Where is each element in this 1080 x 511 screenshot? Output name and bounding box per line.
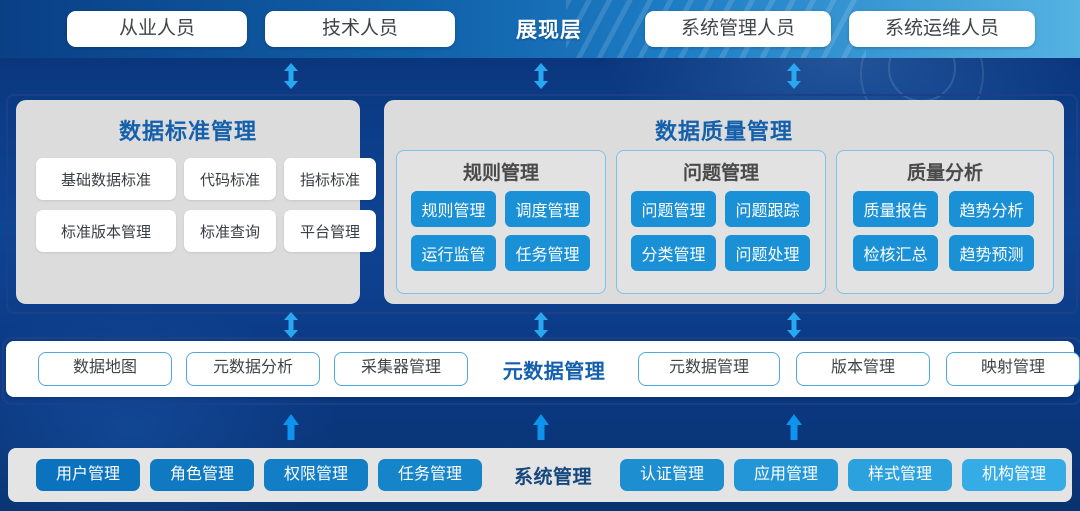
double-arrow-vertical-icon (530, 311, 552, 337)
system-pill-right-1[interactable]: 应用管理 (734, 459, 838, 491)
quality-group-2-item-2[interactable]: 检核汇总 (853, 235, 938, 271)
quality-group-1-item-0[interactable]: 问题管理 (631, 191, 716, 227)
quality-group-0-item-2[interactable]: 运行监管 (411, 235, 496, 271)
quality-group-0-title: 规则管理 (397, 158, 605, 185)
system-pill-right-2[interactable]: 样式管理 (848, 459, 952, 491)
system-pill-right-0[interactable]: 认证管理 (620, 459, 724, 491)
metadata-pill-left-1[interactable]: 元数据分析 (186, 352, 320, 386)
system-pill-left-3[interactable]: 任务管理 (378, 459, 482, 491)
quality-group-0: 规则管理 规则管理 调度管理 运行监管 任务管理 (396, 150, 606, 294)
system-row-title: 系统管理 (498, 462, 608, 489)
metadata-pill-right-1[interactable]: 版本管理 (796, 352, 930, 386)
system-pill-left-0[interactable]: 用户管理 (36, 459, 140, 491)
double-arrow-vertical-icon (783, 62, 805, 88)
quality-group-1: 问题管理 问题管理 问题跟踪 分类管理 问题处理 (616, 150, 826, 294)
system-pill-right-3[interactable]: 机构管理 (962, 459, 1066, 491)
metadata-pill-left-0[interactable]: 数据地图 (38, 352, 172, 386)
connector-strip-middle (0, 310, 1080, 340)
double-arrow-vertical-icon (280, 62, 302, 88)
system-pill-left-1[interactable]: 角色管理 (150, 459, 254, 491)
standard-card-1-2[interactable]: 平台管理 (284, 210, 376, 252)
panel-data-quality-title: 数据质量管理 (384, 114, 1064, 146)
metadata-pill-left-2[interactable]: 采集器管理 (334, 352, 468, 386)
standard-card-0-2[interactable]: 指标标准 (284, 158, 376, 200)
system-pill-left-2[interactable]: 权限管理 (264, 459, 368, 491)
quality-group-1-item-2[interactable]: 分类管理 (631, 235, 716, 271)
arrow-up-icon (280, 412, 302, 438)
double-arrow-vertical-icon (783, 311, 805, 337)
quality-group-1-item-1[interactable]: 问题跟踪 (725, 191, 810, 227)
header-role-pill-2[interactable]: 系统管理人员 (645, 11, 831, 47)
connector-strip-top (0, 58, 1080, 94)
system-management-row: 用户管理 角色管理 权限管理 任务管理 系统管理 认证管理 应用管理 样式管理 … (8, 448, 1072, 502)
quality-group-2-item-3[interactable]: 趋势预测 (949, 235, 1034, 271)
quality-group-2-item-0[interactable]: 质量报告 (853, 191, 938, 227)
header-title: 展现层 (497, 14, 601, 44)
arrow-up-icon (783, 412, 805, 438)
connector-strip-bottom (0, 404, 1080, 446)
quality-group-0-item-3[interactable]: 任务管理 (505, 235, 590, 271)
header-role-pill-1[interactable]: 技术人员 (265, 11, 455, 47)
header-bar: 从业人员 技术人员 展现层 系统管理人员 系统运维人员 (0, 0, 1080, 58)
panel-data-quality: 数据质量管理 规则管理 规则管理 调度管理 运行监管 任务管理 问题管理 问题管… (384, 100, 1064, 304)
header-role-pill-0[interactable]: 从业人员 (67, 11, 247, 47)
quality-group-1-item-3[interactable]: 问题处理 (725, 235, 810, 271)
quality-group-1-title: 问题管理 (617, 158, 825, 185)
metadata-row-title: 元数据管理 (494, 355, 614, 384)
metadata-pill-right-0[interactable]: 元数据管理 (638, 352, 780, 386)
double-arrow-vertical-icon (280, 311, 302, 337)
double-arrow-vertical-icon (530, 62, 552, 88)
metadata-pill-right-2[interactable]: 映射管理 (946, 352, 1080, 386)
quality-group-0-item-1[interactable]: 调度管理 (505, 191, 590, 227)
panel-data-standard-title: 数据标准管理 (16, 114, 360, 146)
standard-card-0-0[interactable]: 基础数据标准 (36, 158, 176, 200)
quality-group-2: 质量分析 质量报告 趋势分析 检核汇总 趋势预测 (836, 150, 1054, 294)
metadata-row: 数据地图 元数据分析 采集器管理 元数据管理 元数据管理 版本管理 映射管理 (6, 341, 1074, 397)
standard-card-0-1[interactable]: 代码标准 (184, 158, 276, 200)
architecture-diagram: 从业人员 技术人员 展现层 系统管理人员 系统运维人员 数据标准管理 基础数据标… (0, 0, 1080, 511)
quality-group-2-item-1[interactable]: 趋势分析 (949, 191, 1034, 227)
arrow-up-icon (530, 412, 552, 438)
header-role-pill-3[interactable]: 系统运维人员 (849, 11, 1035, 47)
quality-group-2-title: 质量分析 (837, 158, 1053, 185)
panel-data-standard: 数据标准管理 基础数据标准 代码标准 指标标准 标准版本管理 标准查询 平台管理 (16, 100, 360, 304)
quality-group-0-item-0[interactable]: 规则管理 (411, 191, 496, 227)
standard-card-1-0[interactable]: 标准版本管理 (36, 210, 176, 252)
standard-card-1-1[interactable]: 标准查询 (184, 210, 276, 252)
